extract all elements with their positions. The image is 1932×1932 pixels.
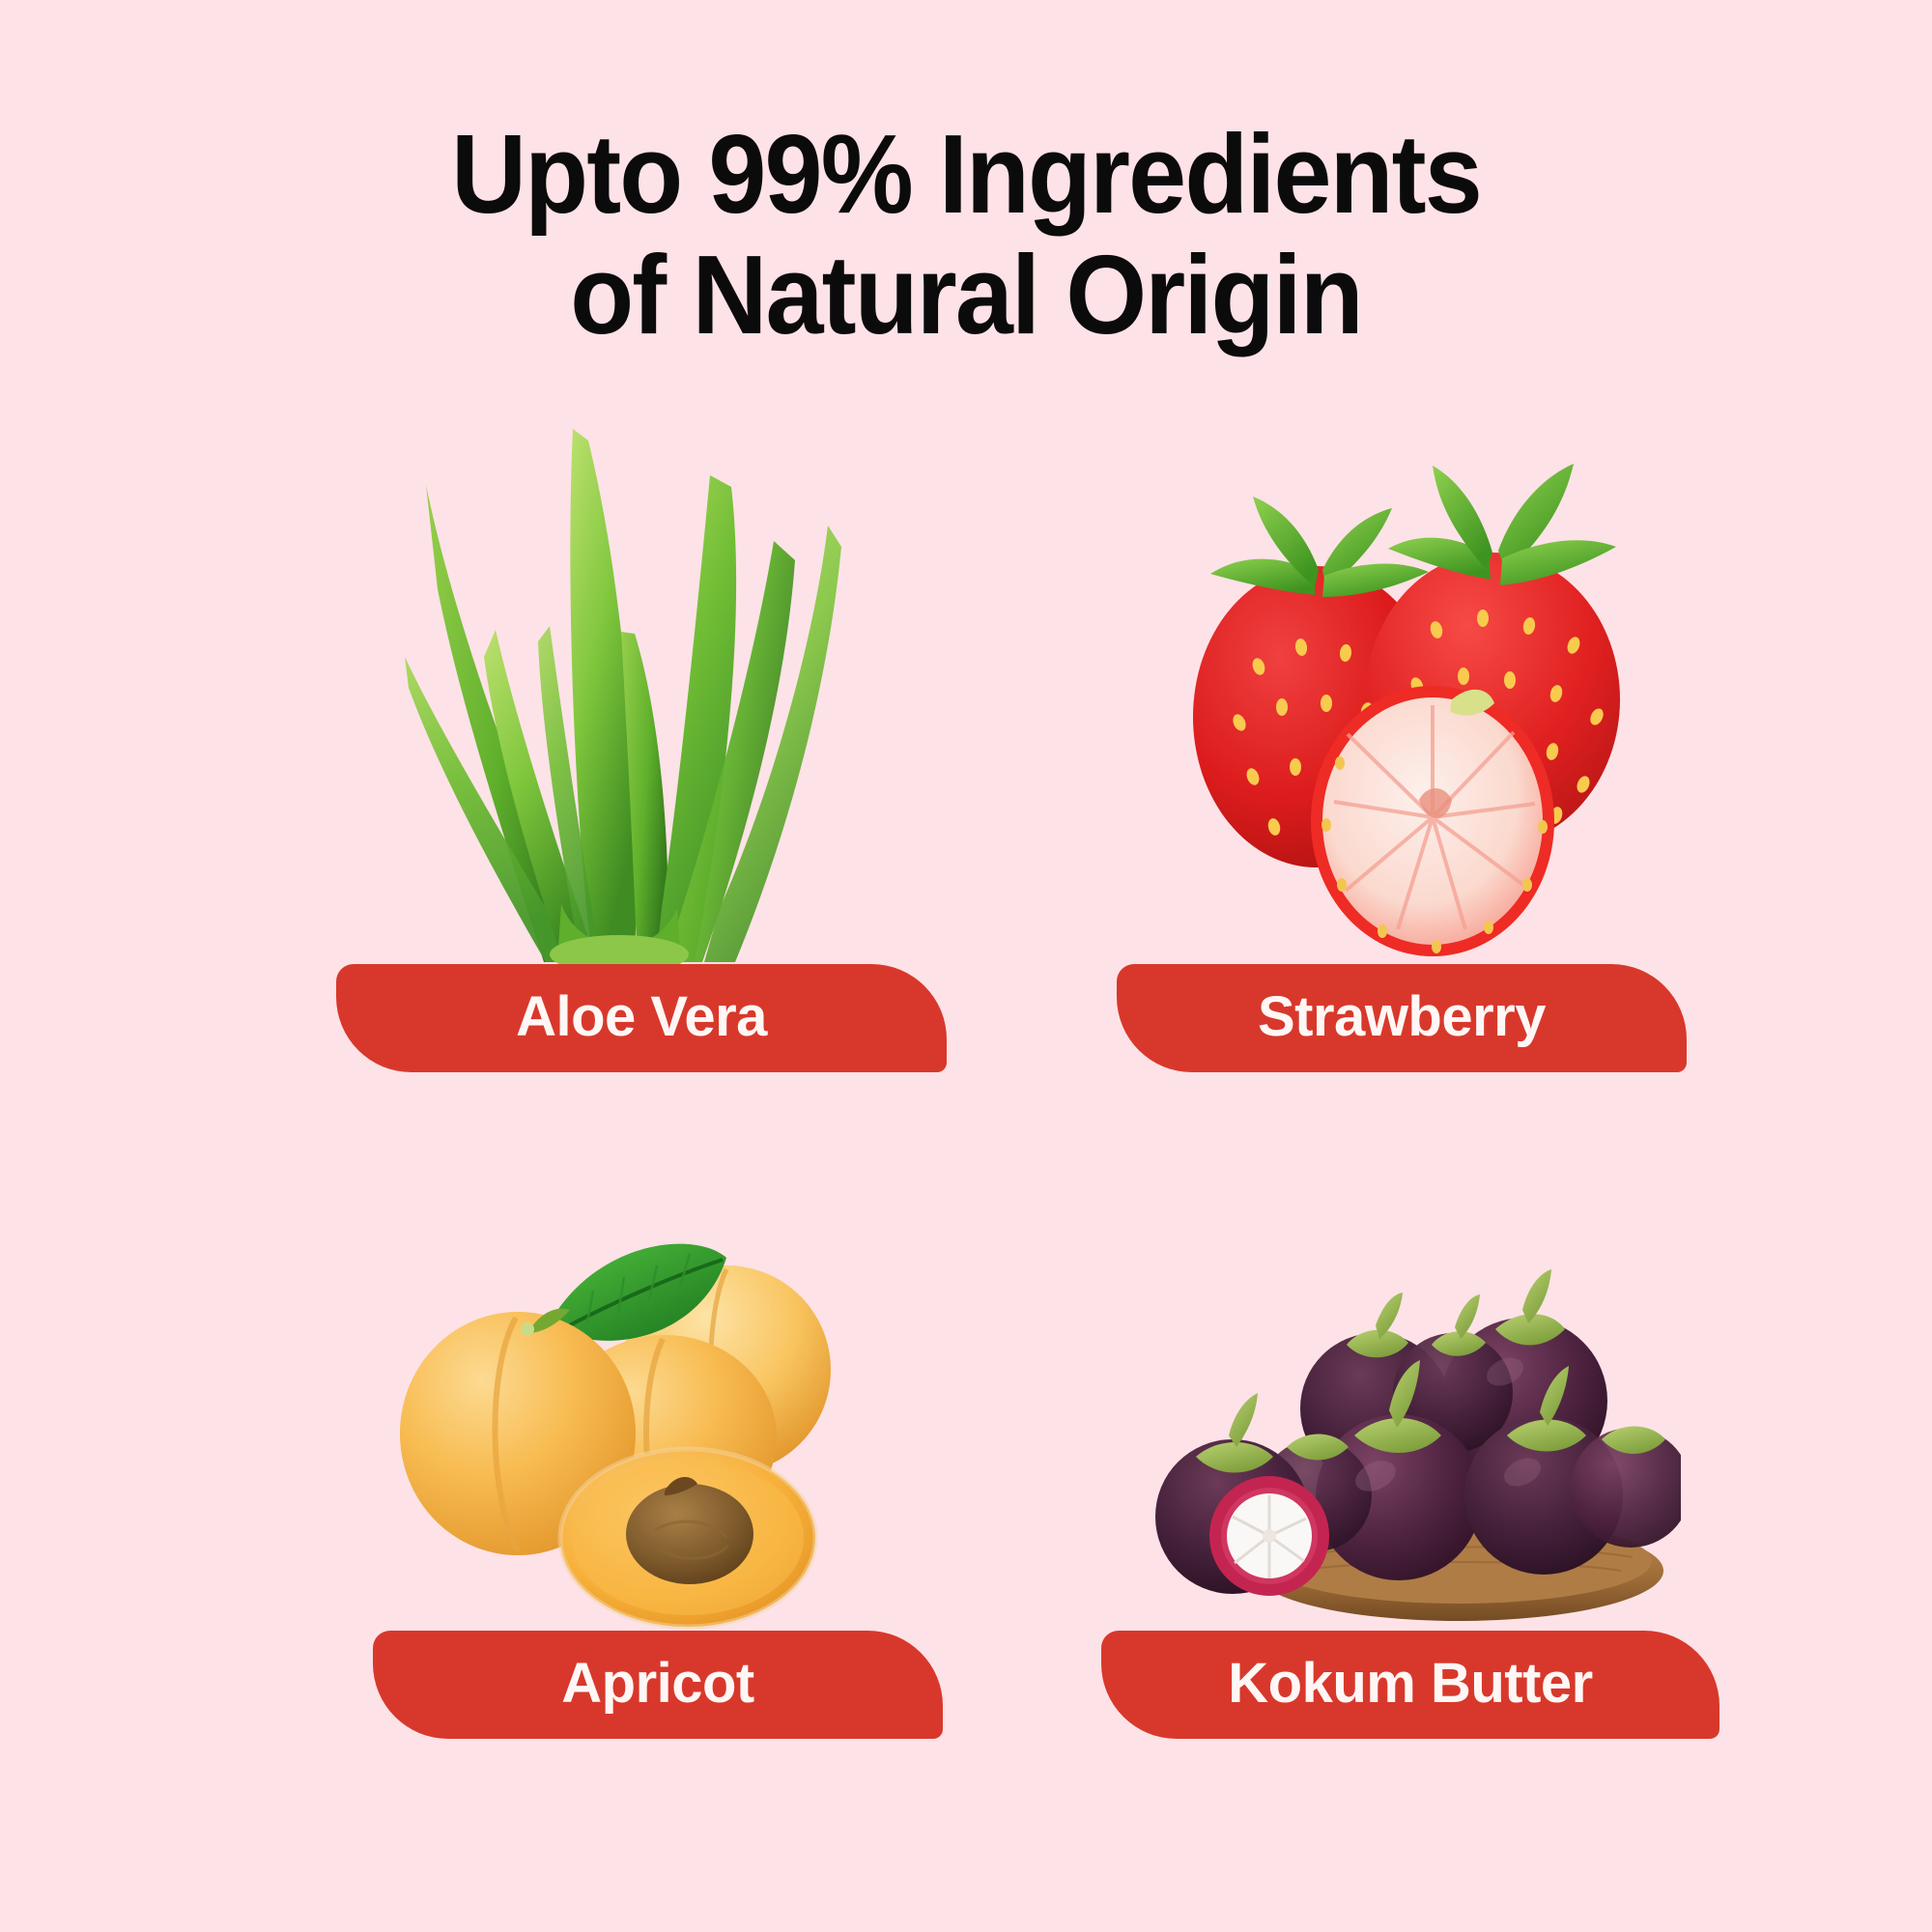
apricot-fruit-icon xyxy=(251,1082,985,1633)
ingredient-label-ribbon: Aloe Vera xyxy=(336,964,947,1072)
ingredient-card-kokum-butter[interactable]: Kokum Butter xyxy=(1043,1082,1777,1739)
page-title: Upto 99% Ingredients of Natural Origin xyxy=(68,114,1864,356)
aloe-vera-plant-icon xyxy=(251,415,985,966)
page-title-line-1: Upto 99% Ingredients xyxy=(68,114,1864,235)
ingredient-label-text: Kokum Butter xyxy=(1228,1651,1592,1716)
ingredient-card-strawberry[interactable]: Strawberry xyxy=(1043,415,1777,1072)
ingredient-label-ribbon: Strawberry xyxy=(1117,964,1687,1072)
ingredient-label-text: Strawberry xyxy=(1258,984,1546,1049)
ingredient-card-apricot[interactable]: Apricot xyxy=(251,1082,985,1739)
page-title-line-2: of Natural Origin xyxy=(68,235,1864,355)
strawberry-fruit-icon xyxy=(1043,415,1777,966)
ingredient-label-ribbon: Kokum Butter xyxy=(1101,1631,1719,1739)
ingredient-card-aloe-vera[interactable]: Aloe Vera xyxy=(251,415,985,1072)
ingredient-label-ribbon: Apricot xyxy=(373,1631,943,1739)
ingredient-label-text: Aloe Vera xyxy=(516,984,767,1049)
ingredient-label-text: Apricot xyxy=(561,1651,754,1716)
mangosteen-kokum-fruit-icon xyxy=(1043,1082,1777,1633)
ingredient-grid: Aloe Vera xyxy=(0,415,1932,1816)
